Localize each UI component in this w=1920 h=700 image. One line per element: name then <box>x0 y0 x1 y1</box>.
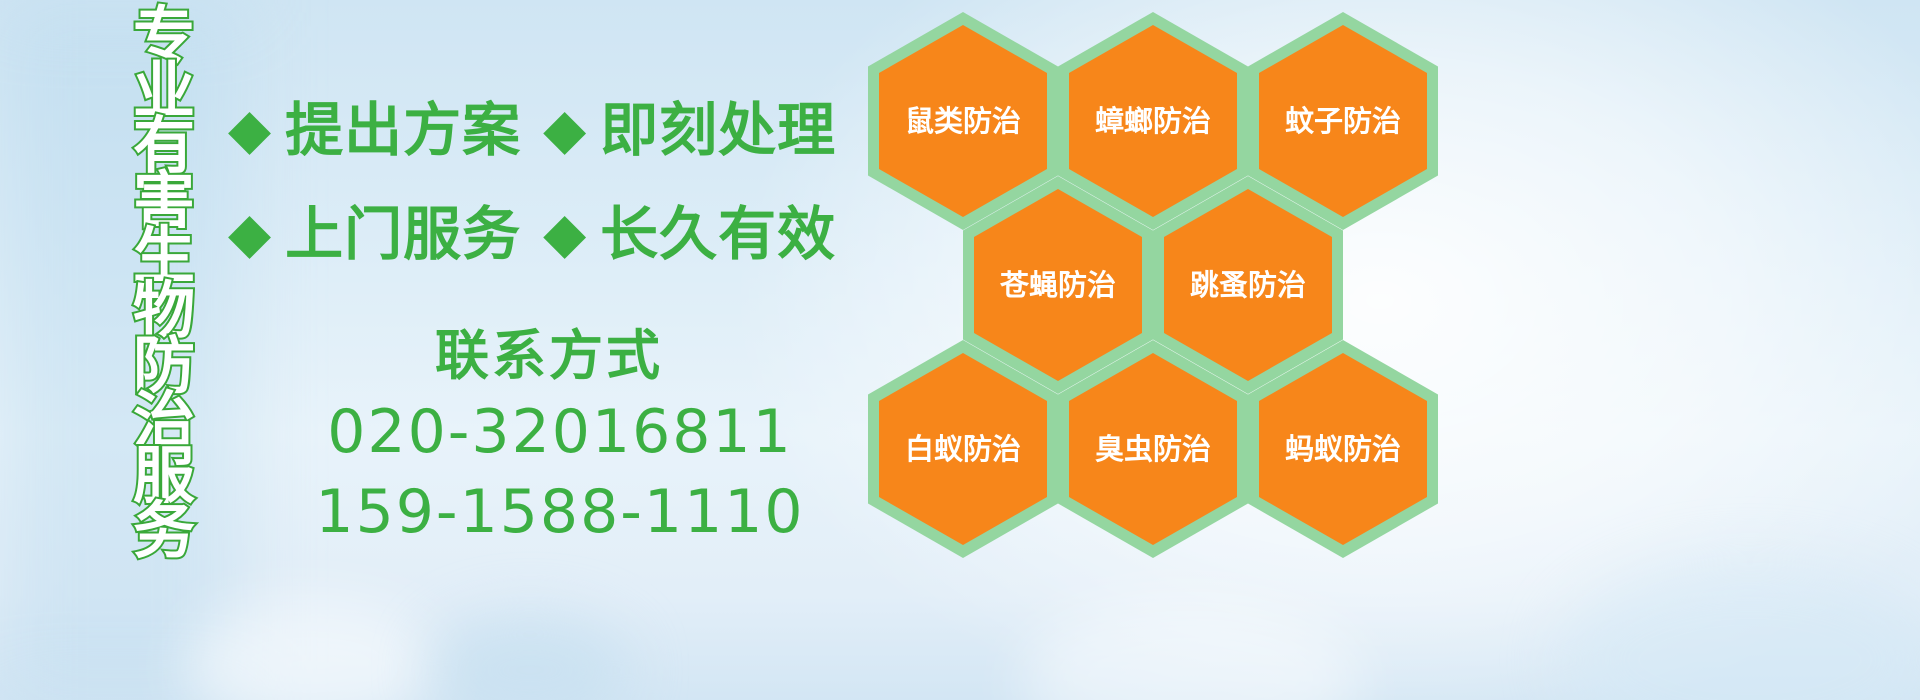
vertical-title-char: 务 <box>133 503 195 558</box>
service-label: 蚊子防治 <box>1285 105 1401 137</box>
background-blob-1 <box>180 600 440 700</box>
service-label: 蚂蚁防治 <box>1285 433 1401 465</box>
hexagon-inner: 臭虫防治 <box>1069 353 1237 545</box>
service-label: 跳蚤防治 <box>1190 269 1306 301</box>
diamond-bullet-icon: ◆ <box>543 102 586 158</box>
background-blob-2 <box>430 615 630 700</box>
hexagon-inner: 蚊子防治 <box>1259 25 1427 217</box>
hexagon-inner: 苍蝇防治 <box>974 189 1142 381</box>
hexagon-inner: 跳蚤防治 <box>1164 189 1332 381</box>
diamond-bullet-icon: ◆ <box>543 206 586 262</box>
feature-row: ◆ 上门服务 ◆ 长久有效 <box>228 182 868 286</box>
phone-number-mobile[interactable]: 159-1588-1110 <box>300 472 820 552</box>
feature-label: 即刻处理 <box>600 100 836 160</box>
background-blob-4 <box>1560 560 1920 700</box>
phone-number-landline[interactable]: 020-32016811 <box>300 392 820 472</box>
service-label: 白蚁防治 <box>905 433 1021 465</box>
feature-label: 上门服务 <box>285 204 521 264</box>
promo-banner: 专 业 有 害 生 物 防 治 服 务 ◆ 提出方案 ◆ 即刻处理 ◆ 上门服务… <box>0 0 1920 700</box>
service-label: 苍蝇防治 <box>1000 269 1116 301</box>
feature-list: ◆ 提出方案 ◆ 即刻处理 ◆ 上门服务 ◆ 长久有效 <box>228 78 868 286</box>
contact-heading: 联系方式 <box>278 320 820 392</box>
diamond-bullet-icon: ◆ <box>228 102 271 158</box>
contact-block: 联系方式 020-32016811 159-1588-1110 <box>300 320 820 552</box>
diamond-bullet-icon: ◆ <box>228 206 271 262</box>
feature-label: 提出方案 <box>285 100 521 160</box>
service-label: 鼠类防治 <box>905 105 1021 137</box>
service-honeycomb: 鼠类防治 蟑螂防治 蚊子防治 苍蝇防治 跳蚤防治 白蚁防治 <box>860 0 1460 700</box>
feature-row: ◆ 提出方案 ◆ 即刻处理 <box>228 78 868 182</box>
feature-label: 长久有效 <box>600 204 836 264</box>
hexagon-inner: 蟑螂防治 <box>1069 25 1237 217</box>
service-label: 臭虫防治 <box>1095 433 1211 465</box>
hexagon-inner: 白蚁防治 <box>879 353 1047 545</box>
hexagon-inner: 鼠类防治 <box>879 25 1047 217</box>
hexagon-inner: 蚂蚁防治 <box>1259 353 1427 545</box>
vertical-title: 专 业 有 害 生 物 防 治 服 务 <box>104 8 224 568</box>
service-label: 蟑螂防治 <box>1095 105 1211 137</box>
